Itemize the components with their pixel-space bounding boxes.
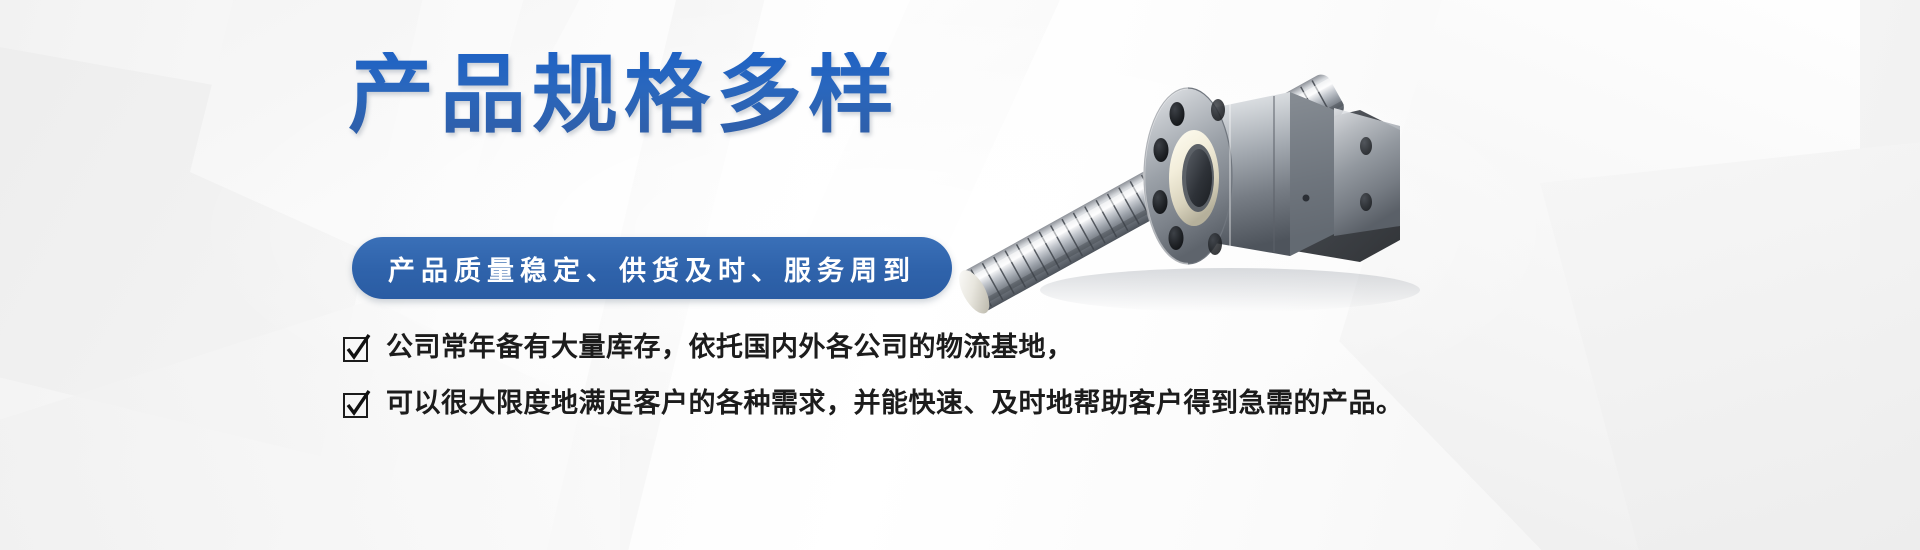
page-title: 产品规格多样 [348, 52, 900, 138]
feature-text: 公司常年备有大量库存，依托国内外各公司的物流基地， [386, 330, 1074, 364]
feature-list: 公司常年备有大量库存，依托国内外各公司的物流基地， 可以很大限度地满足客户的各种… [342, 330, 1322, 442]
checkbox-check-icon [342, 334, 372, 364]
feature-text: 可以很大限度地满足客户的各种需求，并能快速、及时地帮助客户得到急需的产品。 [386, 386, 1404, 420]
promo-banner: 产品规格多样 产品质量稳定、供货及时、服务周到 公司常年备有大量库存，依托国内外… [0, 0, 1920, 550]
list-item: 可以很大限度地满足客户的各种需求，并能快速、及时地帮助客户得到急需的产品。 [342, 386, 1322, 420]
tagline-pill: 产品质量稳定、供货及时、服务周到 [352, 237, 952, 299]
checkbox-check-icon [342, 390, 372, 420]
tagline-text: 产品质量稳定、供货及时、服务周到 [388, 249, 916, 288]
list-item: 公司常年备有大量库存，依托国内外各公司的物流基地， [342, 330, 1322, 364]
banner-content: 产品规格多样 产品质量稳定、供货及时、服务周到 公司常年备有大量库存，依托国内外… [340, 0, 1340, 550]
